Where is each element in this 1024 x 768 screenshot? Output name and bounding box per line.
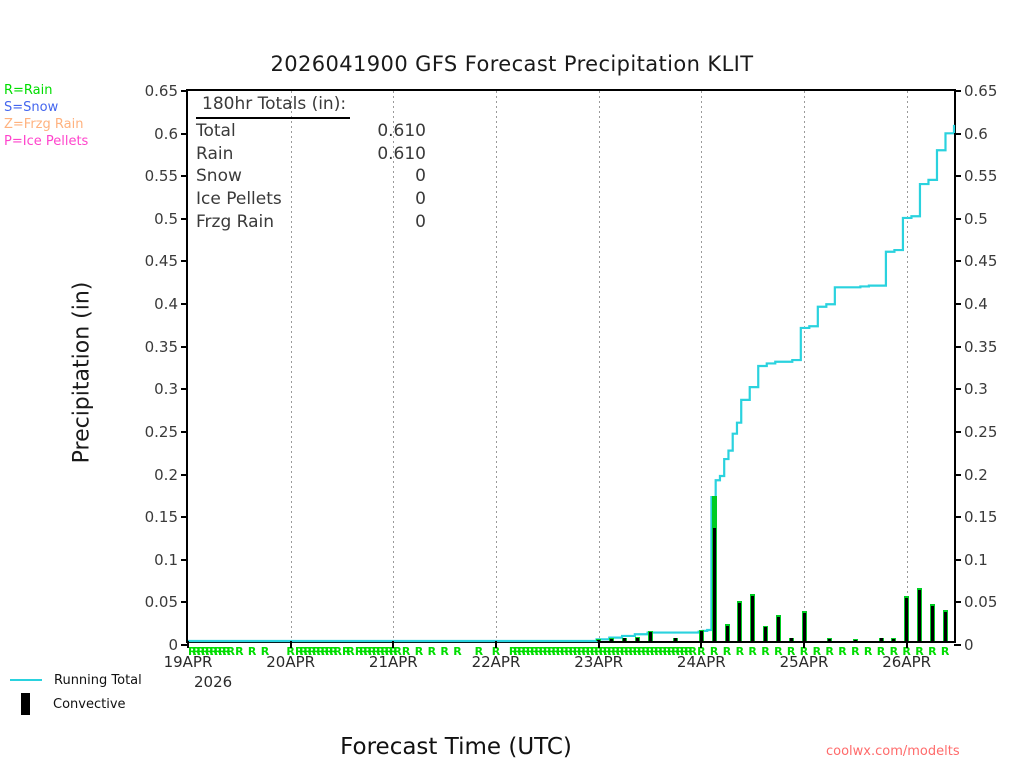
y-tick-label-left: 0.25 (145, 423, 178, 441)
y-tick (954, 388, 961, 390)
precip-type-marker: R (864, 647, 872, 657)
x-tick (803, 641, 805, 648)
totals-row: Frzg Rain0 (196, 211, 426, 234)
y-tick-label-right: 0.5 (964, 210, 988, 228)
y-tick (954, 559, 961, 561)
y-tick (954, 133, 961, 135)
totals-row-value: 0.610 (377, 143, 426, 166)
y-tick-label-right: 0.65 (964, 82, 997, 100)
y-tick (181, 474, 188, 476)
totals-box-rows: Total0.610Rain0.610Snow0Ice Pellets0Frzg… (196, 120, 426, 234)
y-tick (954, 90, 961, 92)
x-tick (495, 641, 497, 648)
precip-type-marker: R (748, 647, 756, 657)
x-tick-label: 23APR (574, 653, 623, 671)
precip-type-marker: R (235, 647, 243, 657)
series-legend-item-1: Convective (10, 692, 142, 716)
page-title: 2026041900 GFS Forecast Precipitation KL… (0, 52, 1024, 76)
x-tick-label: 20APR (266, 653, 315, 671)
y-axis-title: Precipitation (in) (70, 253, 95, 493)
y-tick-label-right: 0.25 (964, 423, 997, 441)
precip-type-marker: R (736, 647, 744, 657)
totals-box: 180hr Totals (in): Total0.610Rain0.610Sn… (196, 93, 426, 234)
precip-type-marker: R (333, 647, 341, 657)
totals-row-value: 0.610 (377, 120, 426, 143)
totals-row-value: 0 (415, 165, 426, 188)
x-tick-label: 25APR (780, 653, 829, 671)
totals-row-label: Rain (196, 143, 377, 166)
y-tick (181, 346, 188, 348)
precip-type-marker: R (851, 647, 859, 657)
x-axis-title: Forecast Time (UTC) (186, 734, 726, 760)
x-tick-label: 26APR (882, 653, 931, 671)
y-tick (954, 601, 961, 603)
y-tick (954, 474, 961, 476)
x-tick-label: 19APR (164, 653, 213, 671)
y-tick (954, 218, 961, 220)
x-tick-label: 22APR (472, 653, 521, 671)
totals-row: Rain0.610 (196, 143, 426, 166)
y-tick-label-right: 0.2 (964, 466, 988, 484)
series-legend: Running TotalConvective (10, 668, 142, 716)
y-tick (954, 346, 961, 348)
y-tick (181, 303, 188, 305)
precip-type-marker: R (761, 647, 769, 657)
y-tick-label-left: 0.2 (154, 466, 178, 484)
precip-type-marker: R (838, 647, 846, 657)
y-tick (954, 175, 961, 177)
precip-type-legend: R=RainS=SnowZ=Frzg RainP=Ice Pellets (4, 82, 88, 150)
y-tick (954, 260, 961, 262)
y-tick-label-left: 0.3 (154, 380, 178, 398)
totals-row-label: Snow (196, 165, 415, 188)
totals-row-label: Total (196, 120, 377, 143)
precip-type-marker: R (440, 647, 448, 657)
x-tick-label: 24APR (677, 653, 726, 671)
precip-type-marker: R (248, 647, 256, 657)
y-tick (181, 260, 188, 262)
totals-row-value: 0 (415, 188, 426, 211)
y-tick-label-left: 0.5 (154, 210, 178, 228)
y-tick-label-left: 0.4 (154, 295, 178, 313)
precip-type-marker: R (227, 647, 235, 657)
y-tick-label-right: 0.45 (964, 252, 997, 270)
precip-type-marker: R (941, 647, 949, 657)
x-tick (187, 641, 189, 648)
y-tick (181, 175, 188, 177)
y-tick (181, 90, 188, 92)
series-legend-item-0: Running Total (10, 668, 142, 692)
y-tick-label-right: 0.15 (964, 508, 997, 526)
ptype-legend-item-3: P=Ice Pellets (4, 133, 88, 150)
y-tick-label-right: 0.35 (964, 338, 997, 356)
totals-row: Snow0 (196, 165, 426, 188)
y-tick (181, 601, 188, 603)
x-tick (392, 641, 394, 648)
y-tick-label-left: 0.15 (145, 508, 178, 526)
totals-row-label: Frzg Rain (196, 211, 415, 234)
legend-bar-swatch (21, 693, 30, 715)
precip-type-marker: R (428, 647, 436, 657)
x-tick (906, 641, 908, 648)
y-tick-label-right: 0.4 (964, 295, 988, 313)
y-tick (954, 431, 961, 433)
x-axis-year-label: 2026 (194, 673, 232, 691)
y-tick (181, 133, 188, 135)
x-tick-label: 21APR (369, 653, 418, 671)
series-legend-label: Convective (53, 697, 126, 712)
y-tick-label-right: 0.05 (964, 593, 997, 611)
totals-row-value: 0 (415, 211, 426, 234)
y-tick-label-left: 0.6 (154, 125, 178, 143)
ptype-legend-item-2: Z=Frzg Rain (4, 116, 88, 133)
y-tick-label-right: 0.55 (964, 167, 997, 185)
y-tick-label-left: 0.65 (145, 82, 178, 100)
y-tick-label-left: 0.1 (154, 551, 178, 569)
y-tick (181, 559, 188, 561)
ptype-legend-item-0: R=Rain (4, 82, 88, 99)
plot-area: RRRRRRRRRRRRRRRRRRRRRRRRRRRRRRRRRRRRRRRR… (186, 89, 956, 643)
x-tick (598, 641, 600, 648)
y-tick (954, 644, 961, 646)
series-legend-label: Running Total (54, 673, 142, 688)
y-tick-label-left: 0.45 (145, 252, 178, 270)
ptype-legend-item-1: S=Snow (4, 99, 88, 116)
legend-line-swatch (10, 679, 42, 681)
y-tick (954, 303, 961, 305)
y-tick-label-right: 0.3 (964, 380, 988, 398)
totals-row: Total0.610 (196, 120, 426, 143)
site-watermark: coolwx.com/modelts (826, 744, 960, 759)
y-tick-label-right: 0 (964, 636, 974, 654)
x-tick (700, 641, 702, 648)
totals-row-label: Ice Pellets (196, 188, 415, 211)
y-tick-label-left: 0 (168, 636, 178, 654)
y-tick (181, 218, 188, 220)
y-tick (954, 516, 961, 518)
totals-row: Ice Pellets0 (196, 188, 426, 211)
y-tick-label-left: 0.55 (145, 167, 178, 185)
y-tick-label-left: 0.35 (145, 338, 178, 356)
y-tick (181, 516, 188, 518)
y-tick-label-right: 0.6 (964, 125, 988, 143)
y-tick-label-right: 0.1 (964, 551, 988, 569)
y-tick-label-left: 0.05 (145, 593, 178, 611)
y-tick (181, 388, 188, 390)
totals-box-heading: 180hr Totals (in): (196, 93, 350, 119)
precip-type-marker: R (453, 647, 461, 657)
precip-type-marker: R (346, 647, 354, 657)
x-tick (290, 641, 292, 648)
y-tick (181, 431, 188, 433)
